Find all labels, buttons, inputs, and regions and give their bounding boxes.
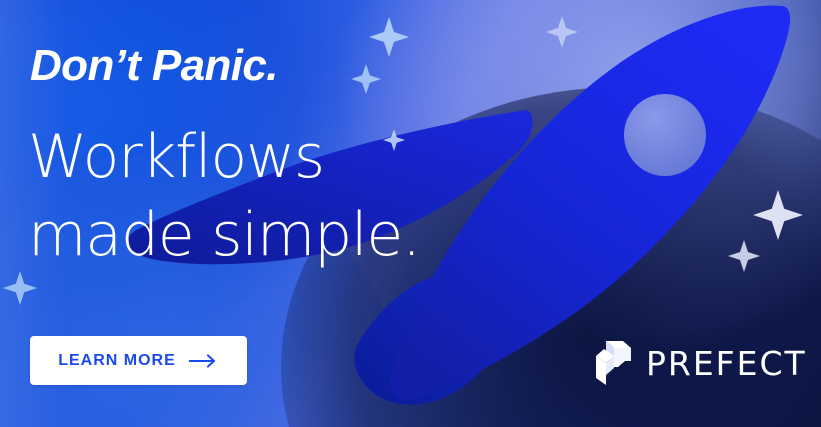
prefect-logo-mark-icon: [592, 338, 632, 388]
prefect-logo: PREFECT: [592, 338, 807, 388]
headline: Don’t Panic.: [30, 42, 278, 90]
learn-more-label: LEARN MORE: [58, 352, 176, 370]
prefect-ad-banner: Don’t Panic. Workflows made simple. LEAR…: [0, 0, 821, 427]
banner-content: Don’t Panic. Workflows made simple. LEAR…: [0, 0, 821, 427]
arrow-right-icon: [189, 354, 219, 368]
prefect-wordmark: PREFECT: [646, 347, 807, 380]
subheadline: Workflows made simple.: [28, 118, 420, 274]
learn-more-button[interactable]: LEARN MORE: [30, 336, 247, 385]
